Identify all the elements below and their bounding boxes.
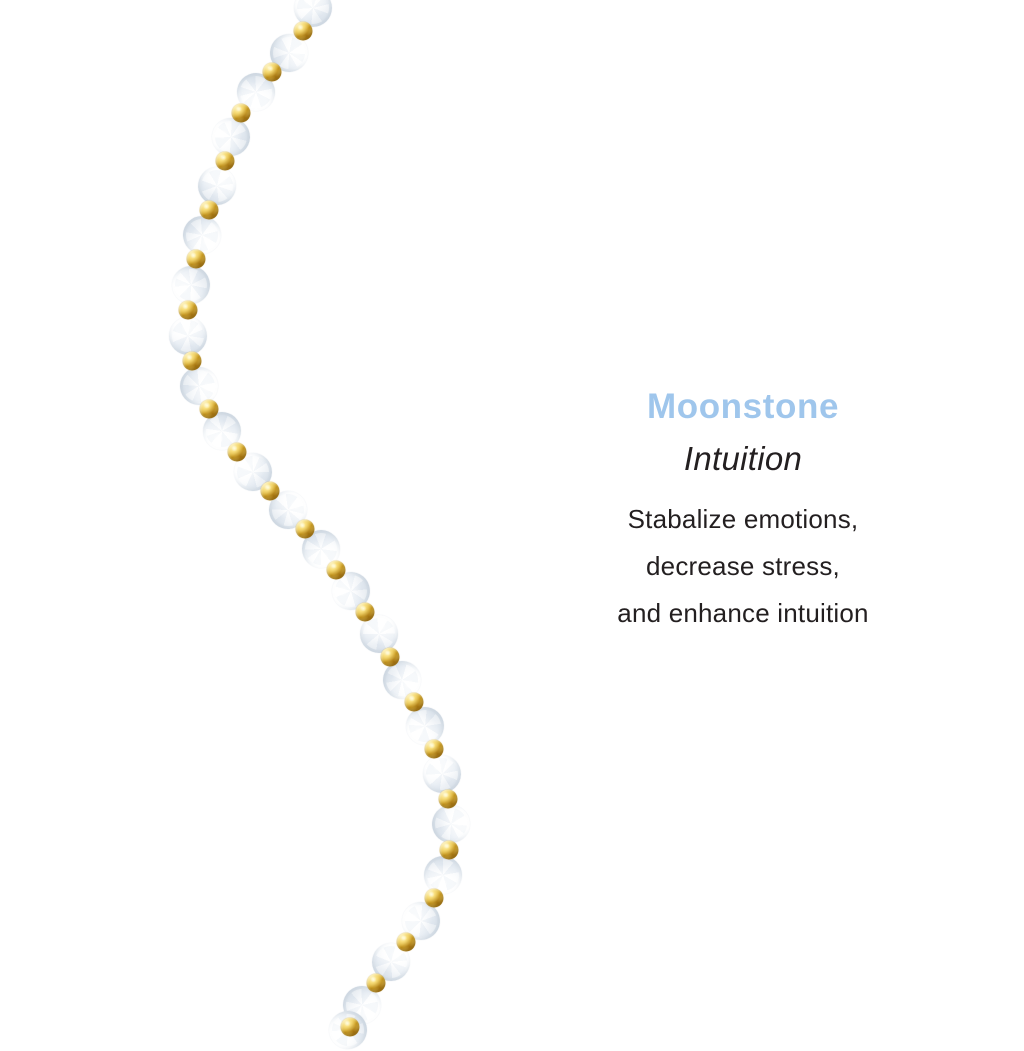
moonstone-bead	[394, 894, 448, 948]
gold-spacer-bead	[263, 63, 282, 82]
moonstone-bead	[196, 405, 249, 458]
moonstone-bead	[229, 448, 278, 497]
moonstone-bead	[230, 66, 282, 118]
product-card: Moonstone Intuition Stabalize emotions, …	[0, 0, 1024, 1024]
gold-spacer-bead	[425, 740, 444, 759]
gold-spacer-bead	[405, 693, 424, 712]
gold-spacer-bead	[199, 200, 218, 219]
moonstone-bead	[327, 1009, 370, 1051]
moonstone-bead	[172, 359, 225, 412]
gold-spacer-bead	[366, 973, 385, 992]
product-text-block: Moonstone Intuition Stabalize emotions, …	[560, 386, 926, 637]
moonstone-bead	[180, 213, 224, 257]
gold-spacer-bead	[293, 21, 312, 40]
moonstone-bead	[163, 311, 212, 360]
gold-spacer-bead	[216, 152, 235, 171]
gold-spacer-bead	[356, 602, 375, 621]
moonstone-bead	[427, 800, 475, 848]
moonstone-bead	[268, 490, 309, 531]
list-item: decrease stress,	[560, 543, 926, 590]
moonstone-bead	[298, 527, 343, 572]
gold-spacer-bead	[178, 301, 197, 320]
moonstone-bead	[340, 983, 383, 1026]
moonstone-bead	[294, 0, 332, 27]
gold-spacer-bead	[397, 932, 416, 951]
moonstone-bead	[170, 264, 212, 306]
gold-spacer-bead	[200, 400, 219, 419]
moonstone-bead	[205, 110, 259, 164]
gold-spacer-bead	[261, 482, 280, 501]
moonstone-bead	[326, 565, 377, 616]
gold-spacer-bead	[424, 889, 443, 908]
gem-keyword: Intuition	[560, 436, 926, 482]
moonstone-bead	[352, 607, 406, 661]
gold-spacer-bead	[340, 1017, 359, 1036]
page-title: Moonstone	[560, 386, 926, 428]
gold-spacer-bead	[227, 443, 246, 462]
list-item: Stabalize emotions,	[560, 496, 926, 543]
gem-benefits-list: Stabalize emotions, decrease stress, and…	[560, 496, 926, 637]
moonstone-bead	[402, 702, 448, 748]
gold-spacer-bead	[182, 352, 201, 371]
moonstone-bead	[366, 937, 416, 987]
gold-spacer-bead	[439, 789, 458, 808]
gold-spacer-bead	[440, 840, 459, 859]
moonstone-bead	[423, 754, 462, 793]
gold-spacer-bead	[381, 647, 400, 666]
gold-spacer-bead	[327, 560, 346, 579]
moonstone-bead	[192, 160, 243, 211]
gold-spacer-bead	[231, 103, 250, 122]
moonstone-bead	[265, 29, 312, 76]
moonstone-bead	[376, 654, 428, 706]
gold-spacer-bead	[295, 520, 314, 539]
gold-spacer-bead	[186, 250, 205, 269]
list-item: and enhance intuition	[560, 590, 926, 637]
moonstone-bead	[417, 848, 470, 901]
